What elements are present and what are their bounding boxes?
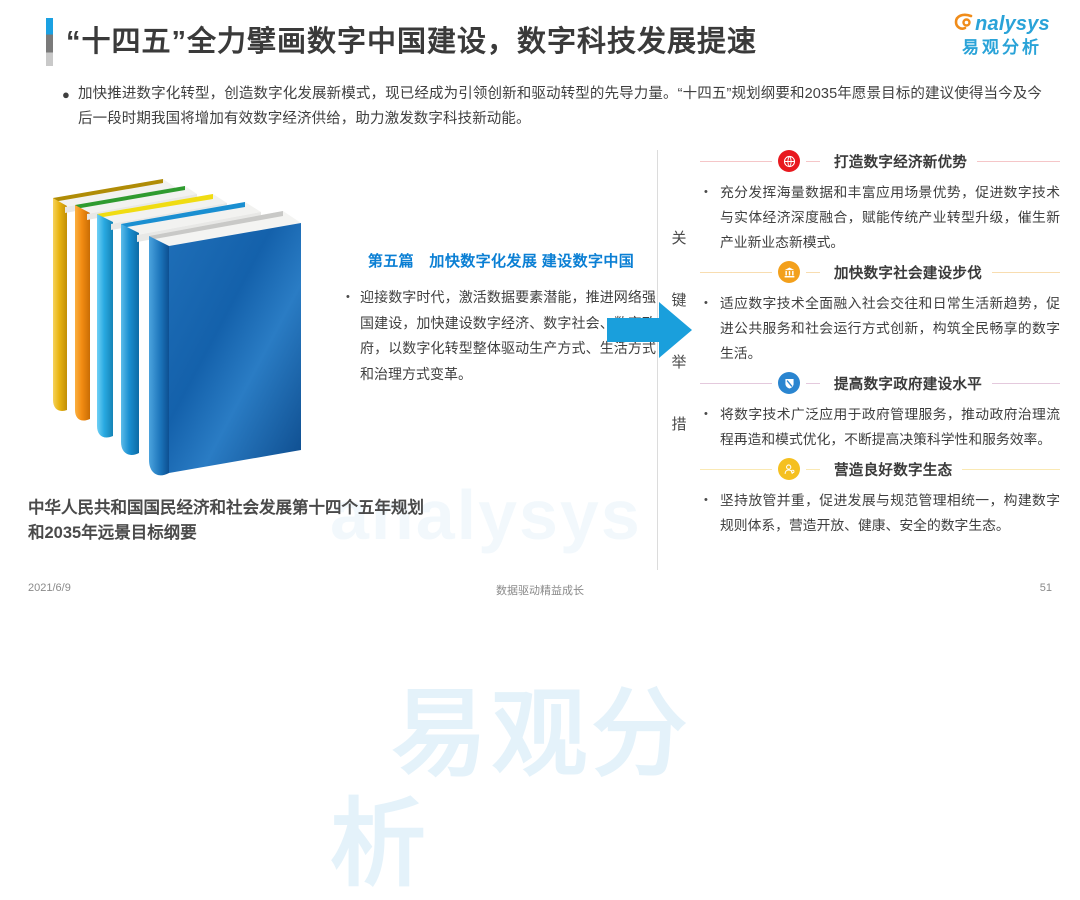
section-bullet-icon: • [704,402,720,452]
right-panel: 打造数字经济新优势 • 充分发挥海量数据和丰富应用场景优势，促进数字技术与实体经… [700,148,1060,542]
section-rule-mid [806,383,820,384]
section-body: • 适应数字技术全面融入社会交往和日常生活新趋势，促进公共服务和社会运行方式创新… [700,291,1060,366]
section-rule-mid [806,272,820,273]
section-rule-mid [806,161,820,162]
books-illustration [45,160,345,490]
analysys-logo: nalysys 易观分析 [942,12,1062,68]
section-rule-right [992,383,1060,384]
shield-icon [778,372,800,394]
logo-chinese-text: 易观分析 [942,37,1062,58]
section-title: 加快数字社会建设步伐 [834,262,982,283]
vlabel-char-3: 措 [668,394,690,456]
section-rule-left [700,272,772,273]
section-bullet-icon: • [704,488,720,538]
section-title: 打造数字经济新优势 [834,151,967,172]
section-body: • 充分发挥海量数据和丰富应用场景优势，促进数字技术与实体经济深度融合，赋能传统… [700,180,1060,255]
title-accent-bar [46,18,53,66]
bank-icon [778,261,800,283]
intro-paragraph: ● 加快推进数字化转型，创造数字化发展新模式，现已经成为引领创新和驱动转型的先导… [62,82,1042,132]
section-rule-right [977,161,1060,162]
vlabel-char-1: 键 [668,270,690,332]
globe-icon [778,150,800,172]
header: “十四五”全力擘画数字中国建设，数字科技发展提速 nalysys 易观分析 [0,0,1080,78]
section-header: 打造数字经济新优势 [700,148,1060,174]
footer: 2021/6/9 数据驱动精益成长 51 [0,574,1080,608]
section-rule-right [962,469,1060,470]
section-header: 提高数字政府建设水平 [700,370,1060,396]
footer-slogan: 数据驱动精益成长 [0,582,1080,598]
section-text: 充分发挥海量数据和丰富应用场景优势，促进数字技术与实体经济深度融合，赋能传统产业… [720,180,1060,255]
section-body: • 将数字技术广泛应用于政府管理服务，推动政府治理流程再造和模式优化，不断提高决… [700,402,1060,452]
section-text: 坚持放管并重，促进发展与规范管理相统一，构建数字规则体系，营造开放、健康、安全的… [720,488,1060,538]
section-body: • 坚持放管并重，促进发展与规范管理相统一，构建数字规则体系，营造开放、健康、安… [700,488,1060,538]
section-rule-right [992,272,1060,273]
section-digital-government: 提高数字政府建设水平 • 将数字技术广泛应用于政府管理服务，推动政府治理流程再造… [700,370,1060,452]
middle-bullet-icon: • [346,285,360,387]
section-rule-left [700,161,772,162]
section-rule-mid [806,469,820,470]
section-bullet-icon: • [704,291,720,366]
section-digital-ecology: 营造良好数字生态 • 坚持放管并重，促进发展与规范管理相统一，构建数字规则体系，… [700,456,1060,538]
section-digital-society: 加快数字社会建设步伐 • 适应数字技术全面融入社会交往和日常生活新趋势，促进公共… [700,259,1060,366]
vlabel-char-2: 举 [668,332,690,394]
section-text: 将数字技术广泛应用于政府管理服务，推动政府治理流程再造和模式优化，不断提高决策科… [720,402,1060,452]
section-header: 营造良好数字生态 [700,456,1060,482]
section-title: 营造良好数字生态 [834,459,952,480]
intro-text: 加快推进数字化转型，创造数字化发展新模式，现已经成为引领创新和驱动转型的先导力量… [78,82,1042,132]
person-icon [778,458,800,480]
page-title: “十四五”全力擘画数字中国建设，数字科技发展提速 [66,18,757,60]
section-header: 加快数字社会建设步伐 [700,259,1060,285]
key-measures-vertical-label: 关 键 举 措 [668,208,690,456]
footer-page-number: 51 [1040,582,1052,594]
section-rule-left [700,383,772,384]
book-dark-blue [149,211,301,475]
logo-wordmark-row: nalysys [942,12,1062,37]
section-rule-left [700,469,772,470]
vlabel-char-0: 关 [668,208,690,270]
section-text: 适应数字技术全面融入社会交往和日常生活新趋势，促进公共服务和社会运行方式创新，构… [720,291,1060,366]
watermark-text: 易观分析 [330,681,691,898]
section-bullet-icon: • [704,180,720,255]
section-title: 提高数字政府建设水平 [834,373,982,394]
section-digital-economy: 打造数字经济新优势 • 充分发挥海量数据和丰富应用场景优势，促进数字技术与实体经… [700,148,1060,255]
middle-section-title: 第五篇 加快数字化发展 建设数字中国 [346,250,656,271]
books-caption: 中华人民共和国国民经济和社会发展第十四个五年规划和2035年远景目标纲要 [28,496,428,546]
logo-wordmark-text: nalysys [975,13,1050,35]
swoosh-icon [954,12,974,37]
intro-bullet-icon: ● [62,82,78,132]
